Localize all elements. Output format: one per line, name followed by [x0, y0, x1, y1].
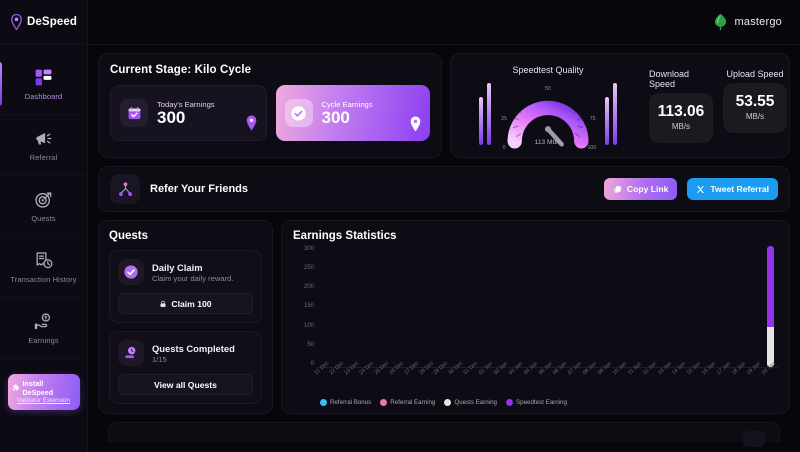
tweet-referral-button[interactable]: Tweet Referral	[687, 178, 778, 200]
chart-bar-slot[interactable]	[570, 246, 585, 367]
row-stage-speed: Current Stage: Kilo Cycle	[98, 53, 790, 158]
brand-logo[interactable]: DeSpeed	[0, 0, 87, 45]
chart-legend-item[interactable]: Referral Bonus	[320, 399, 371, 406]
legend-color-dot	[380, 399, 387, 406]
chart-bar-slot[interactable]	[406, 246, 421, 367]
target-icon	[34, 190, 53, 209]
quests-completed-head: Quests Completed 1/15	[118, 340, 253, 366]
current-stage-panel: Current Stage: Kilo Cycle	[98, 53, 442, 158]
install-row: Install DeSpeed	[12, 379, 76, 397]
download-unit: MB/s	[672, 122, 690, 131]
stat-text: Cycle Earnings 300	[322, 100, 373, 127]
lock-icon	[159, 300, 167, 308]
chart-area: 300250200150100500 21 Dec22 Dec23 Dec24 …	[293, 246, 778, 398]
install-despeed-button[interactable]: Install DeSpeed Validator Extension	[8, 374, 80, 410]
chart-plot	[317, 246, 778, 368]
calendar-check-icon	[120, 99, 148, 127]
sidebar-item-label: Transaction History	[10, 275, 76, 284]
chart-bar-slot[interactable]	[540, 246, 555, 367]
location-pin-icon	[245, 115, 258, 131]
chart-y-tick: 50	[307, 342, 314, 348]
chart-bar-slot[interactable]	[421, 246, 436, 367]
upload-value-box: 53.55 MB/s	[723, 83, 787, 133]
upload-unit: MB/s	[746, 112, 764, 121]
main-area: mastergo Current Stage: Kilo Cycle	[88, 0, 800, 452]
chart-bar-slot[interactable]	[362, 246, 377, 367]
check-circle-icon	[285, 99, 313, 127]
download-value-box: 113.06 MB/s	[649, 93, 713, 143]
chart-bar-slot[interactable]	[317, 246, 332, 367]
speedtest-panel: Speedtest Quality	[450, 53, 790, 158]
grid-dashboard-icon	[34, 68, 53, 87]
gauge-tick-50: 50	[545, 86, 551, 92]
chart-x-axis: 21 Dec22 Dec23 Dec24 Dec25 Dec26 Dec27 D…	[317, 368, 778, 398]
sidebar: DeSpeed Dashboard Referral	[0, 0, 88, 452]
activity-bar	[605, 97, 609, 145]
cycle-earnings-card: Cycle Earnings 300	[276, 85, 431, 141]
content: Current Stage: Kilo Cycle	[88, 45, 800, 452]
chart-bar-slot[interactable]	[763, 246, 778, 367]
legend-label: Quests Earning	[454, 399, 497, 406]
gauge-tick-100: 100	[587, 145, 596, 151]
gauge-tick-25: 25	[501, 116, 507, 122]
quests-completed-text: Quests Completed 1/15	[152, 343, 235, 364]
sidebar-item-label: Dashboard	[25, 92, 63, 101]
claim-button[interactable]: Claim 100	[118, 293, 253, 314]
tweet-referral-label: Tweet Referral	[710, 184, 769, 194]
medal-icon	[118, 340, 144, 366]
megaphone-icon	[34, 129, 53, 148]
view-all-quests-label: View all Quests	[154, 380, 217, 390]
legend-color-dot	[320, 399, 327, 406]
legend-label: Referral Earning	[390, 399, 435, 406]
gauge-tick-75: 75	[590, 116, 596, 122]
chart-bar-slot[interactable]	[734, 246, 749, 367]
copy-icon	[613, 185, 622, 194]
check-circle-icon	[118, 259, 144, 285]
sidebar-item-label: Quests	[31, 214, 55, 223]
chart-bar-slot[interactable]	[629, 246, 644, 367]
x-twitter-icon	[696, 185, 705, 194]
upload-value: 53.55	[736, 94, 775, 110]
location-pin-icon	[10, 14, 23, 30]
chart-bar-segment	[767, 246, 774, 327]
chart-bar-slot[interactable]	[674, 246, 689, 367]
chart-bar-slot[interactable]	[510, 246, 525, 367]
chart-y-tick: 250	[304, 265, 314, 271]
gauge-center-value: 113 Mb/s	[535, 139, 562, 146]
chart-x-slot: 20 Jan	[763, 368, 778, 398]
puzzle-icon	[12, 384, 20, 392]
receipt-clock-icon	[34, 251, 53, 270]
chart-bar[interactable]	[767, 246, 774, 367]
stat-text: Today's Earnings 300	[157, 100, 215, 127]
chart-plot-outer: 21 Dec22 Dec23 Dec24 Dec25 Dec26 Dec27 D…	[317, 246, 778, 398]
daily-claim-head: Daily Claim Claim your daily reward.	[118, 259, 253, 285]
sidebar-item-referral[interactable]: Referral	[0, 115, 87, 176]
gauge-tick-0: 0	[503, 145, 506, 151]
claim-button-label: Claim 100	[171, 299, 211, 309]
copy-link-label: Copy Link	[627, 184, 669, 194]
chart-legend-item[interactable]: Speedtest Earning	[506, 399, 567, 406]
speed-readouts: Download Speed 113.06 MB/s Upload Speed …	[649, 69, 791, 143]
chart-bar-slot[interactable]	[525, 246, 540, 367]
chart-bar-slot[interactable]	[585, 246, 600, 367]
stat-value: 300	[322, 109, 373, 127]
copy-link-button[interactable]: Copy Link	[604, 178, 678, 200]
chart-y-tick: 200	[304, 284, 314, 290]
left-activity-bars	[479, 83, 491, 145]
refer-friends-panel: Refer Your Friends Copy Link Tweet Refer…	[98, 166, 790, 212]
chart-bar-slot[interactable]	[481, 246, 496, 367]
chart-bar-slot[interactable]	[436, 246, 451, 367]
chart-bar-slot[interactable]	[600, 246, 615, 367]
legend-color-dot	[444, 399, 451, 406]
sidebar-item-label: Earnings	[28, 336, 58, 345]
legend-color-dot	[506, 399, 513, 406]
chart-legend: Referral BonusReferral EarningQuests Ear…	[293, 399, 778, 406]
chart-bar-slot[interactable]	[466, 246, 481, 367]
download-value: 113.06	[658, 104, 705, 120]
green-leaf-icon	[712, 13, 729, 31]
chart-bar-slot[interactable]	[748, 246, 763, 367]
chart-y-axis: 300250200150100500	[293, 246, 317, 398]
refer-title: Refer Your Friends	[150, 183, 594, 195]
activity-bar	[613, 83, 617, 145]
chart-y-tick: 100	[304, 323, 314, 329]
chart-bar-slot[interactable]	[451, 246, 466, 367]
daily-claim-name: Daily Claim	[152, 262, 233, 273]
legend-label: Referral Bonus	[330, 399, 371, 406]
download-label: Download Speed	[649, 69, 713, 89]
stage-title: Current Stage: Kilo Cycle	[110, 64, 430, 76]
chart-bar-slot[interactable]	[555, 246, 570, 367]
earnings-statistics-panel: Earnings Statistics 300250200150100500 2…	[281, 220, 790, 414]
right-activity-bars	[605, 83, 617, 145]
peek-chip	[743, 431, 765, 447]
sidebar-item-dashboard[interactable]: Dashboard	[0, 54, 87, 115]
sidebar-item-transaction-history[interactable]: Transaction History	[0, 237, 87, 298]
quests-completed-name: Quests Completed	[152, 343, 235, 354]
upload-speed-block: Upload Speed 53.55 MB/s	[723, 69, 787, 143]
gauge-title: Speedtest Quality	[512, 65, 583, 75]
chart-bar-slot[interactable]	[704, 246, 719, 367]
legend-label: Speedtest Earning	[516, 399, 567, 406]
chart-bar-slot[interactable]	[659, 246, 674, 367]
view-all-quests-button[interactable]: View all Quests	[118, 374, 253, 395]
download-speed-block: Download Speed 113.06 MB/s	[649, 69, 713, 143]
chart-y-tick: 300	[304, 246, 314, 252]
account-name: mastergo	[735, 16, 782, 28]
stat-value: 300	[157, 109, 215, 127]
chart-bar-slot[interactable]	[332, 246, 347, 367]
chart-bar-slot[interactable]	[391, 246, 406, 367]
location-pin-icon	[409, 116, 422, 132]
quests-title: Quests	[109, 230, 262, 242]
hand-coin-icon	[34, 312, 53, 331]
daily-claim-text: Daily Claim Claim your daily reward.	[152, 262, 233, 283]
upload-label: Upload Speed	[726, 69, 783, 79]
chart-legend-item[interactable]: Referral Earning	[380, 399, 435, 406]
app-root: DeSpeed Dashboard Referral	[0, 0, 800, 452]
stage-cards: Today's Earnings 300	[110, 85, 430, 141]
row-quests-chart: Quests Daily Claim Claim y	[98, 220, 790, 414]
quests-panel: Quests Daily Claim Claim y	[98, 220, 273, 414]
brand-name: DeSpeed	[27, 16, 77, 28]
chart-title: Earnings Statistics	[293, 230, 778, 242]
daily-claim-card: Daily Claim Claim your daily reward. Cla…	[109, 250, 262, 323]
quests-completed-progress: 1/15	[152, 355, 235, 364]
chart-legend-item[interactable]: Quests Earning	[444, 399, 497, 406]
daily-claim-desc: Claim your daily reward.	[152, 274, 233, 283]
sidebar-nav: Dashboard Referral Quests	[0, 45, 87, 359]
activity-bar	[479, 97, 483, 145]
sidebar-item-label: Referral	[30, 153, 58, 162]
activity-bar	[487, 83, 491, 145]
install-subtitle: Validator Extension	[17, 397, 70, 404]
sidebar-item-earnings[interactable]: Earnings	[0, 298, 87, 359]
chart-y-tick: 150	[304, 303, 314, 309]
chart-bar-slot[interactable]	[377, 246, 392, 367]
topbar: mastergo	[88, 0, 800, 45]
todays-earnings-card: Today's Earnings 300	[110, 85, 267, 141]
chart-bar-slot[interactable]	[719, 246, 734, 367]
sidebar-item-quests[interactable]: Quests	[0, 176, 87, 237]
chart-y-tick: 0	[311, 361, 314, 367]
speedtest-gauge-block: Speedtest Quality	[459, 65, 637, 146]
chart-bar-slot[interactable]	[615, 246, 630, 367]
bottom-panel-peek	[108, 422, 780, 442]
install-title: Install DeSpeed	[22, 379, 75, 397]
chart-bar-slot[interactable]	[689, 246, 704, 367]
quests-completed-card: Quests Completed 1/15 View all Quests	[109, 331, 262, 404]
chart-bar-slot[interactable]	[496, 246, 511, 367]
chart-bar-slot[interactable]	[644, 246, 659, 367]
share-network-icon	[110, 174, 140, 204]
chart-bar-slot[interactable]	[347, 246, 362, 367]
